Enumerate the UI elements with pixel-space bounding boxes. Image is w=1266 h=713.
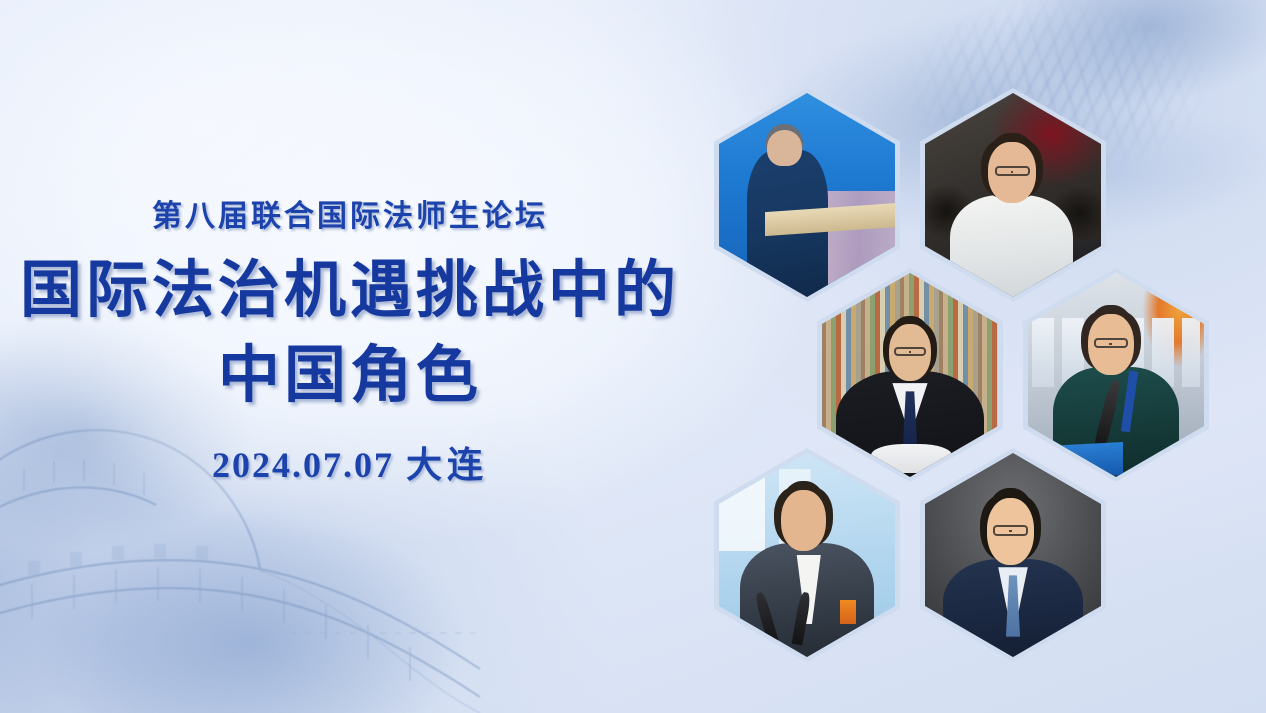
speaker-photo-3-frame — [822, 273, 998, 477]
speaker-hex-4[interactable] — [1023, 268, 1209, 482]
speaker-photo-5 — [719, 453, 895, 657]
speaker-photo-2 — [925, 93, 1101, 297]
poster-text-block: 第八届联合国际法师生论坛 国际法治机遇挑战中的 中国角色 2024.07.07大… — [0, 198, 700, 488]
speaker-photo-4-frame — [1028, 273, 1204, 477]
speaker-3-hands — [871, 444, 952, 473]
speaker-photo-6 — [925, 453, 1101, 657]
speaker-6-glasses — [993, 525, 1028, 536]
speaker-photo-6-frame — [925, 453, 1101, 657]
event-date: 2024.07.07 — [212, 445, 394, 485]
event-city: 大连 — [406, 445, 488, 485]
speaker-1-body — [747, 150, 828, 297]
speaker-4-nameplate — [1049, 442, 1123, 477]
speaker-3-glasses — [894, 347, 925, 356]
speaker-hex-5[interactable] — [714, 448, 900, 662]
speaker-6-head — [987, 498, 1035, 565]
speaker-4-head — [1088, 314, 1134, 375]
poster-canvas: 第八届联合国际法师生论坛 国际法治机遇挑战中的 中国角色 2024.07.07大… — [0, 0, 1266, 713]
speaker-2-body — [950, 195, 1073, 297]
speaker-1-head — [767, 130, 802, 167]
speaker-photo-3 — [822, 273, 998, 477]
speaker-hex-3[interactable] — [817, 268, 1003, 482]
speaker-2-head — [988, 142, 1036, 203]
speaker-hex-2[interactable] — [920, 88, 1106, 302]
speaker-photo-1 — [719, 93, 895, 297]
speaker-photo-2-frame — [925, 93, 1101, 297]
speaker-4-glasses — [1094, 338, 1128, 348]
speaker-3-head — [889, 324, 931, 381]
speaker-5-badge — [840, 600, 856, 624]
poster-title-line-2: 中国角色 — [0, 337, 700, 416]
speaker-2-glasses — [995, 166, 1030, 176]
speaker-photo-4 — [1028, 273, 1204, 477]
poster-title-line-1: 国际法治机遇挑战中的 — [0, 252, 700, 331]
speaker-hex-6[interactable] — [920, 448, 1106, 662]
speaker-photo-5-frame — [719, 453, 895, 657]
speaker-photo-1-frame — [719, 93, 895, 297]
speaker-hex-1[interactable] — [714, 88, 900, 302]
forum-subtitle: 第八届联合国际法师生论坛 — [0, 198, 700, 236]
speaker-5-head — [781, 490, 827, 551]
event-date-location: 2024.07.07大连 — [0, 436, 700, 488]
